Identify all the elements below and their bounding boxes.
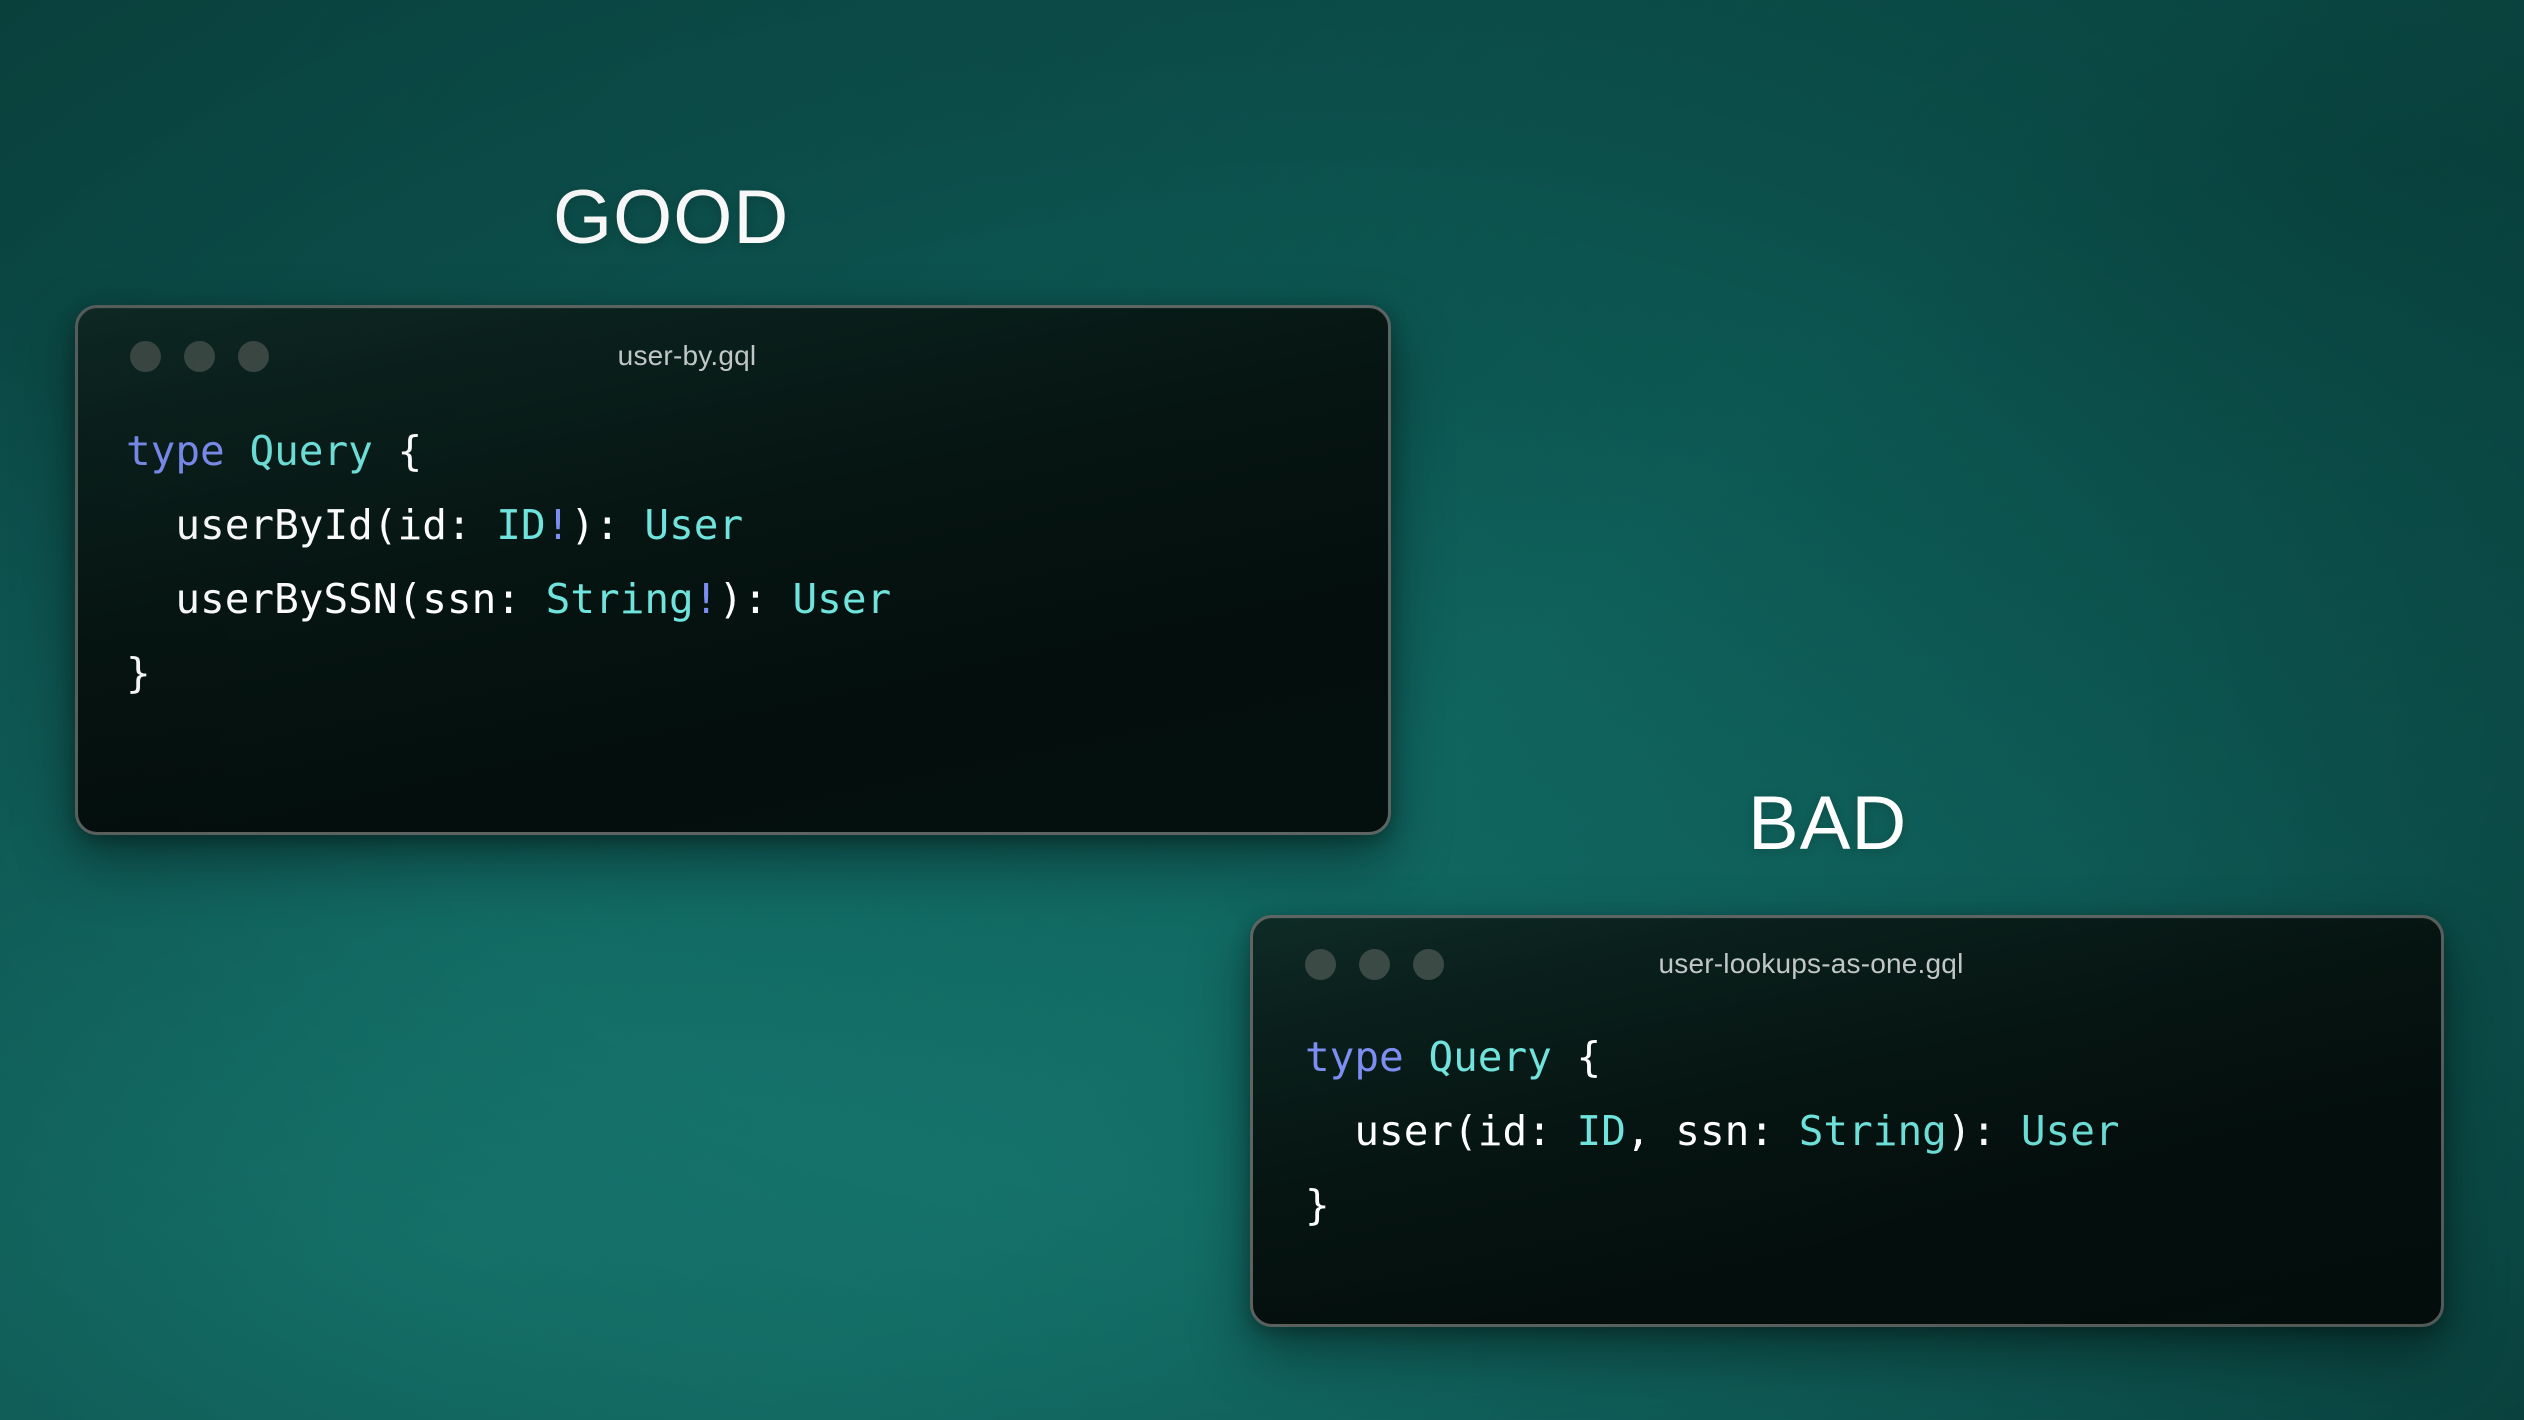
caption-bad: BAD [1748,786,1907,862]
code-token: type [1305,1033,1404,1081]
code-token [225,427,250,475]
code-window-bad: user-lookups-as-one.gql type Query { use… [1250,915,2444,1327]
code-token: String [546,575,694,623]
code-token [373,427,398,475]
code-block-bad: type Query { user(id: ID, ssn: String): … [1253,1010,2441,1242]
minimize-dot-icon[interactable] [184,341,215,372]
code-token: } [126,649,151,697]
code-token: String [1799,1107,1947,1155]
code-token [1552,1033,1577,1081]
code-token: ): [1947,1107,2021,1155]
code-line: userBySSN(ssn: String!): User [126,575,891,623]
code-token: , ssn: [1626,1107,1799,1155]
caption-good: GOOD [553,180,789,256]
code-token: ID [1577,1107,1626,1155]
code-token: Query [249,427,372,475]
code-token: userBySSN(ssn: [126,575,546,623]
code-token: } [1305,1181,1330,1229]
code-line: user(id: ID, ssn: String): User [1305,1107,2120,1155]
code-token: { [398,427,423,475]
code-token: ! [546,501,571,549]
code-line: type Query { [1305,1033,1601,1081]
code-block-good: type Query { userById(id: ID!): User use… [78,404,1388,710]
code-token: ): [718,575,792,623]
code-token: ID [496,501,545,549]
maximize-dot-icon[interactable] [1413,949,1444,980]
minimize-dot-icon[interactable] [1359,949,1390,980]
close-dot-icon[interactable] [130,341,161,372]
code-token: User [644,501,743,549]
code-token: ! [694,575,719,623]
screenshot-canvas: GOOD user-by.gql type Query { userById(i… [0,0,2524,1420]
code-token: ): [570,501,644,549]
code-token: Query [1428,1033,1551,1081]
code-line: userById(id: ID!): User [126,501,743,549]
close-dot-icon[interactable] [1305,949,1336,980]
code-token: type [126,427,225,475]
window-titlebar-good: user-by.gql [78,308,1388,404]
maximize-dot-icon[interactable] [238,341,269,372]
traffic-lights-good [130,341,269,372]
code-token: { [1577,1033,1602,1081]
code-token [1404,1033,1429,1081]
code-line: } [126,649,151,697]
traffic-lights-bad [1305,949,1444,980]
code-line: } [1305,1181,1330,1229]
code-token: User [2021,1107,2120,1155]
code-line: type Query { [126,427,422,475]
code-window-good: user-by.gql type Query { userById(id: ID… [75,305,1391,835]
code-token: user(id: [1305,1107,1577,1155]
code-token: userById(id: [126,501,496,549]
window-titlebar-bad: user-lookups-as-one.gql [1253,918,2441,1010]
code-token: User [793,575,892,623]
